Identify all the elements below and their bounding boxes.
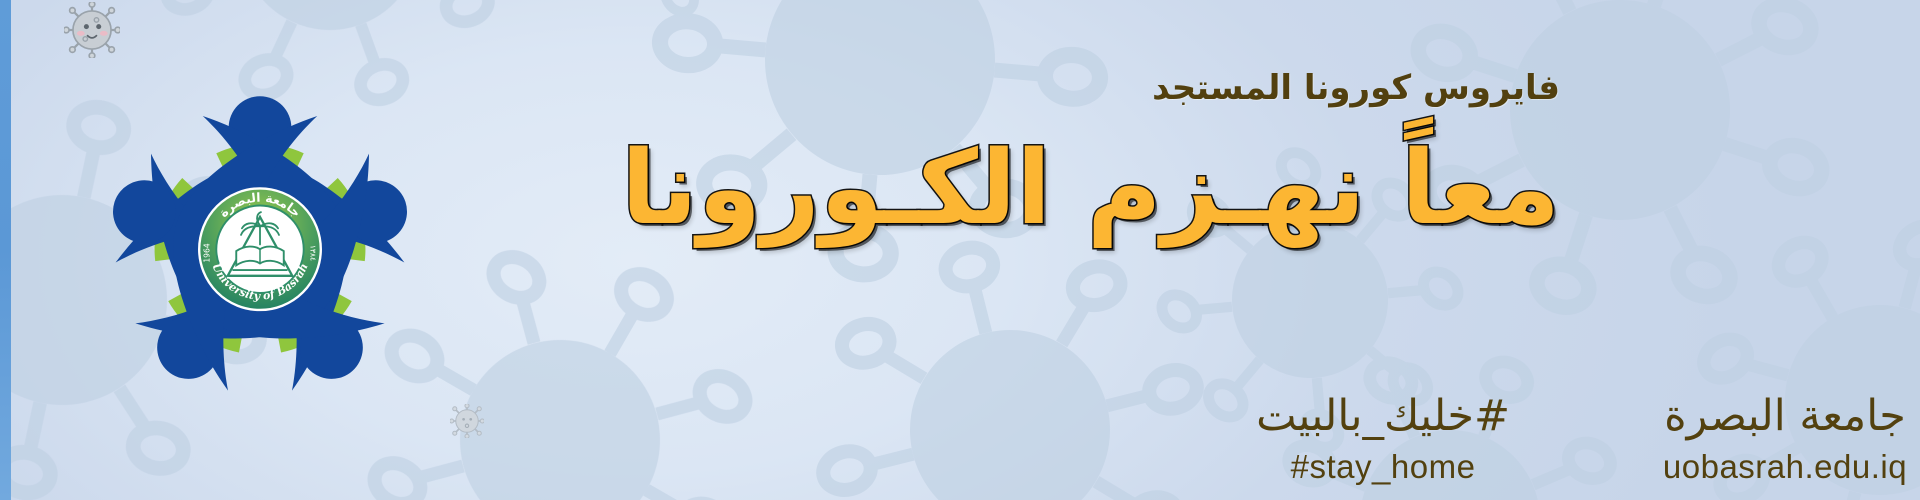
- subtitle-top: فايروس كورونا المستجد: [410, 68, 1560, 108]
- hashtag-block: #خليك_بالبيت #stay_home: [1256, 391, 1510, 486]
- university-of-basrah-logo: جامعة البصرة University of Basrah 1964 ١…: [70, 24, 450, 444]
- headline: معاً نهـزم الكـورونا: [410, 130, 1560, 247]
- hashtag-arabic: #خليك_بالبيت: [1256, 391, 1510, 442]
- seal-year-latin: 1964: [203, 243, 212, 262]
- banner-footer-row: جامعة البصرة uobasrah.edu.iq #خليك_بالبي…: [0, 391, 1920, 486]
- covid-awareness-banner: جامعة البصرة University of Basrah 1964 ١…: [0, 0, 1920, 500]
- left-accent-strip: [0, 0, 11, 500]
- university-block: جامعة البصرة uobasrah.edu.iq: [1660, 391, 1910, 486]
- university-name-arabic: جامعة البصرة: [1660, 391, 1910, 442]
- hashtag-english: #stay_home: [1256, 448, 1510, 486]
- university-website[interactable]: uobasrah.edu.iq: [1660, 448, 1910, 486]
- seal-year-arabic: ١٣٨٤: [308, 245, 317, 261]
